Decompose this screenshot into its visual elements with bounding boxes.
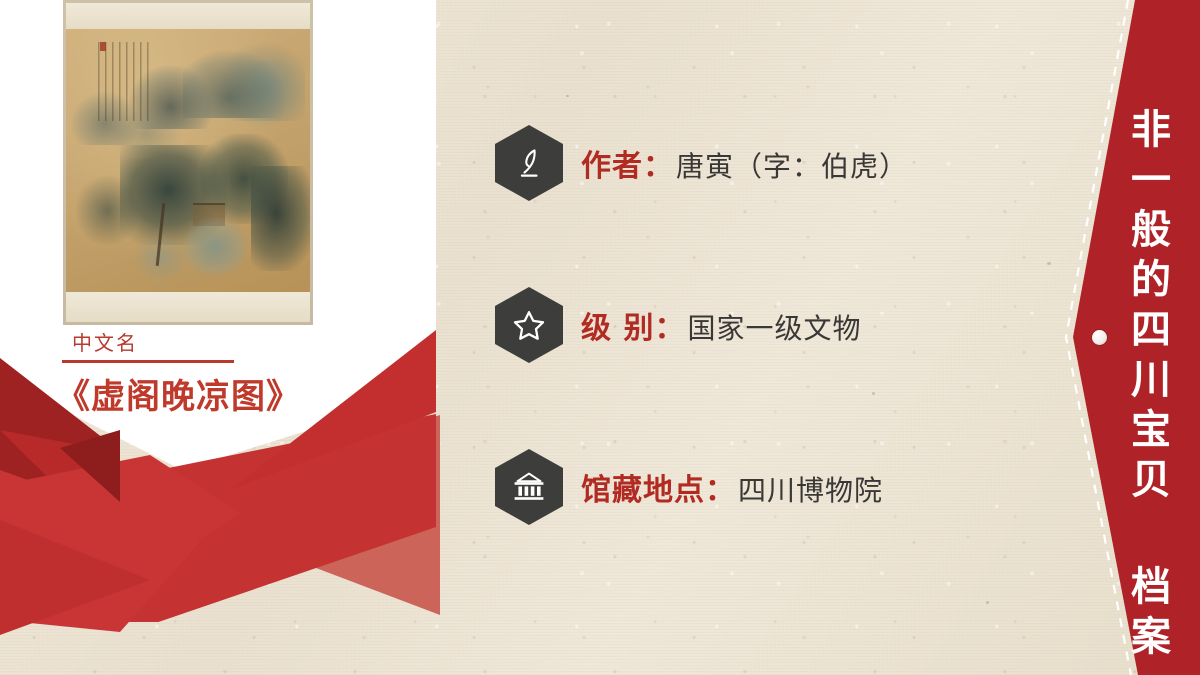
info-value: 四川博物院 (738, 474, 883, 507)
artifact-info-list: 作者：唐寅（字：伯虎） 级 别：国家一级文物 (495, 120, 1055, 606)
info-text-author: 作者：唐寅（字：伯虎） (581, 141, 908, 185)
slide-root: 中文名 《虚阁晚凉图》 作者：唐寅（字：伯虎） (0, 0, 1200, 675)
title-divider (62, 360, 234, 363)
scroll-mount (63, 0, 313, 325)
page-title: 《虚阁晚凉图》 (56, 369, 436, 418)
artwork-scroll (63, 0, 313, 325)
info-value: 唐寅（字：伯虎） (676, 150, 908, 183)
info-row-location: 馆藏地点：四川博物院 (495, 444, 1055, 530)
chinese-name-label: 中文名 (72, 332, 436, 354)
scroll-inner (66, 3, 310, 322)
info-label: 级 别： (581, 311, 685, 346)
banner-title: 非一般的四川宝贝 档案 (1106, 108, 1168, 665)
info-row-author: 作者：唐寅（字：伯虎） (495, 120, 1055, 206)
info-row-grade: 级 别：国家一级文物 (495, 282, 1055, 368)
museum-building-icon (495, 449, 563, 525)
paper-speck (566, 95, 569, 97)
painting-inscription (98, 42, 152, 121)
info-value: 国家一级文物 (687, 312, 861, 345)
info-label: 作者： (581, 149, 674, 184)
quill-pen-icon (495, 125, 563, 201)
painting-bush (183, 218, 246, 276)
info-label: 馆藏地点： (581, 473, 736, 508)
info-text-location: 馆藏地点：四川博物院 (581, 465, 883, 509)
banner-eyelet (1092, 330, 1107, 345)
star-icon (495, 287, 563, 363)
title-block: 中文名 《虚阁晚凉图》 (0, 332, 436, 418)
info-text-grade: 级 别：国家一级文物 (581, 303, 861, 347)
painting-tree (251, 166, 310, 271)
painting-seal (100, 42, 106, 51)
scroll-band-top (66, 3, 310, 29)
painting-canvas (66, 29, 310, 292)
scroll-band-bottom (66, 292, 310, 322)
